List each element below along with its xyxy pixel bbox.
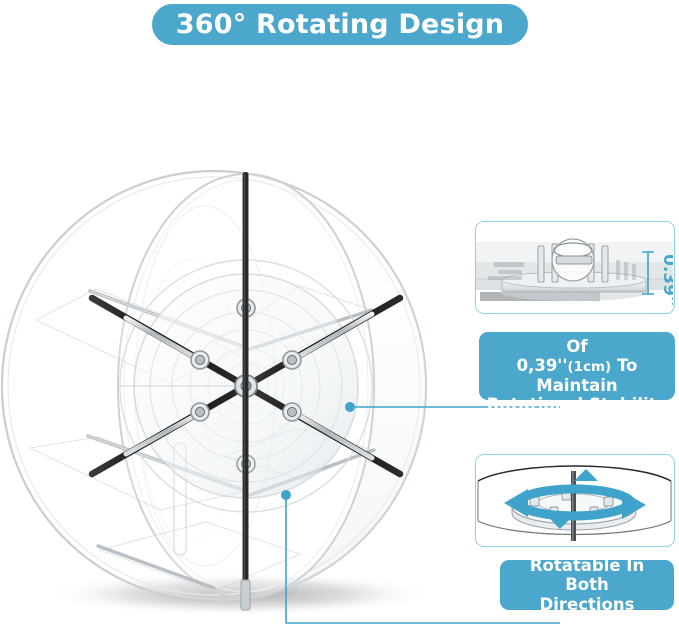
chassis-caption-line1: Chassis Thickness Of bbox=[493, 317, 661, 355]
page-title: 360° Rotating Design bbox=[176, 11, 504, 38]
chassis-thickness-photo: 0.39'' bbox=[475, 221, 675, 314]
chassis-closeup-illustration: 0.39'' bbox=[476, 222, 673, 312]
chassis-caption-text: Chassis Thickness Of 0,39''(1cm) To Main… bbox=[485, 317, 669, 415]
rotation-caption-line2: Directions bbox=[540, 595, 635, 614]
dimension-label-text: 0.39'' bbox=[659, 254, 673, 306]
chassis-thickness-caption: Chassis Thickness Of 0,39''(1cm) To Main… bbox=[479, 332, 675, 400]
bidirectional-rotation-photo bbox=[475, 454, 675, 547]
chassis-caption-line2-value: 0,39'' bbox=[517, 356, 568, 375]
product-image-running-wheel bbox=[0, 150, 470, 629]
chassis-caption-line2-unit: (1cm) bbox=[567, 359, 611, 375]
rotation-diagram-illustration bbox=[476, 455, 673, 545]
chassis-caption-line3: Rotational Stability bbox=[487, 395, 668, 414]
rotation-caption-line1: Rotatable In Both bbox=[530, 556, 644, 594]
page-title-banner: 360° Rotating Design bbox=[152, 4, 528, 45]
rotatable-directions-caption: Rotatable In Both Directions bbox=[500, 560, 674, 610]
running-wheel-illustration bbox=[0, 150, 470, 629]
rotation-caption-text: Rotatable In Both Directions bbox=[506, 556, 668, 614]
